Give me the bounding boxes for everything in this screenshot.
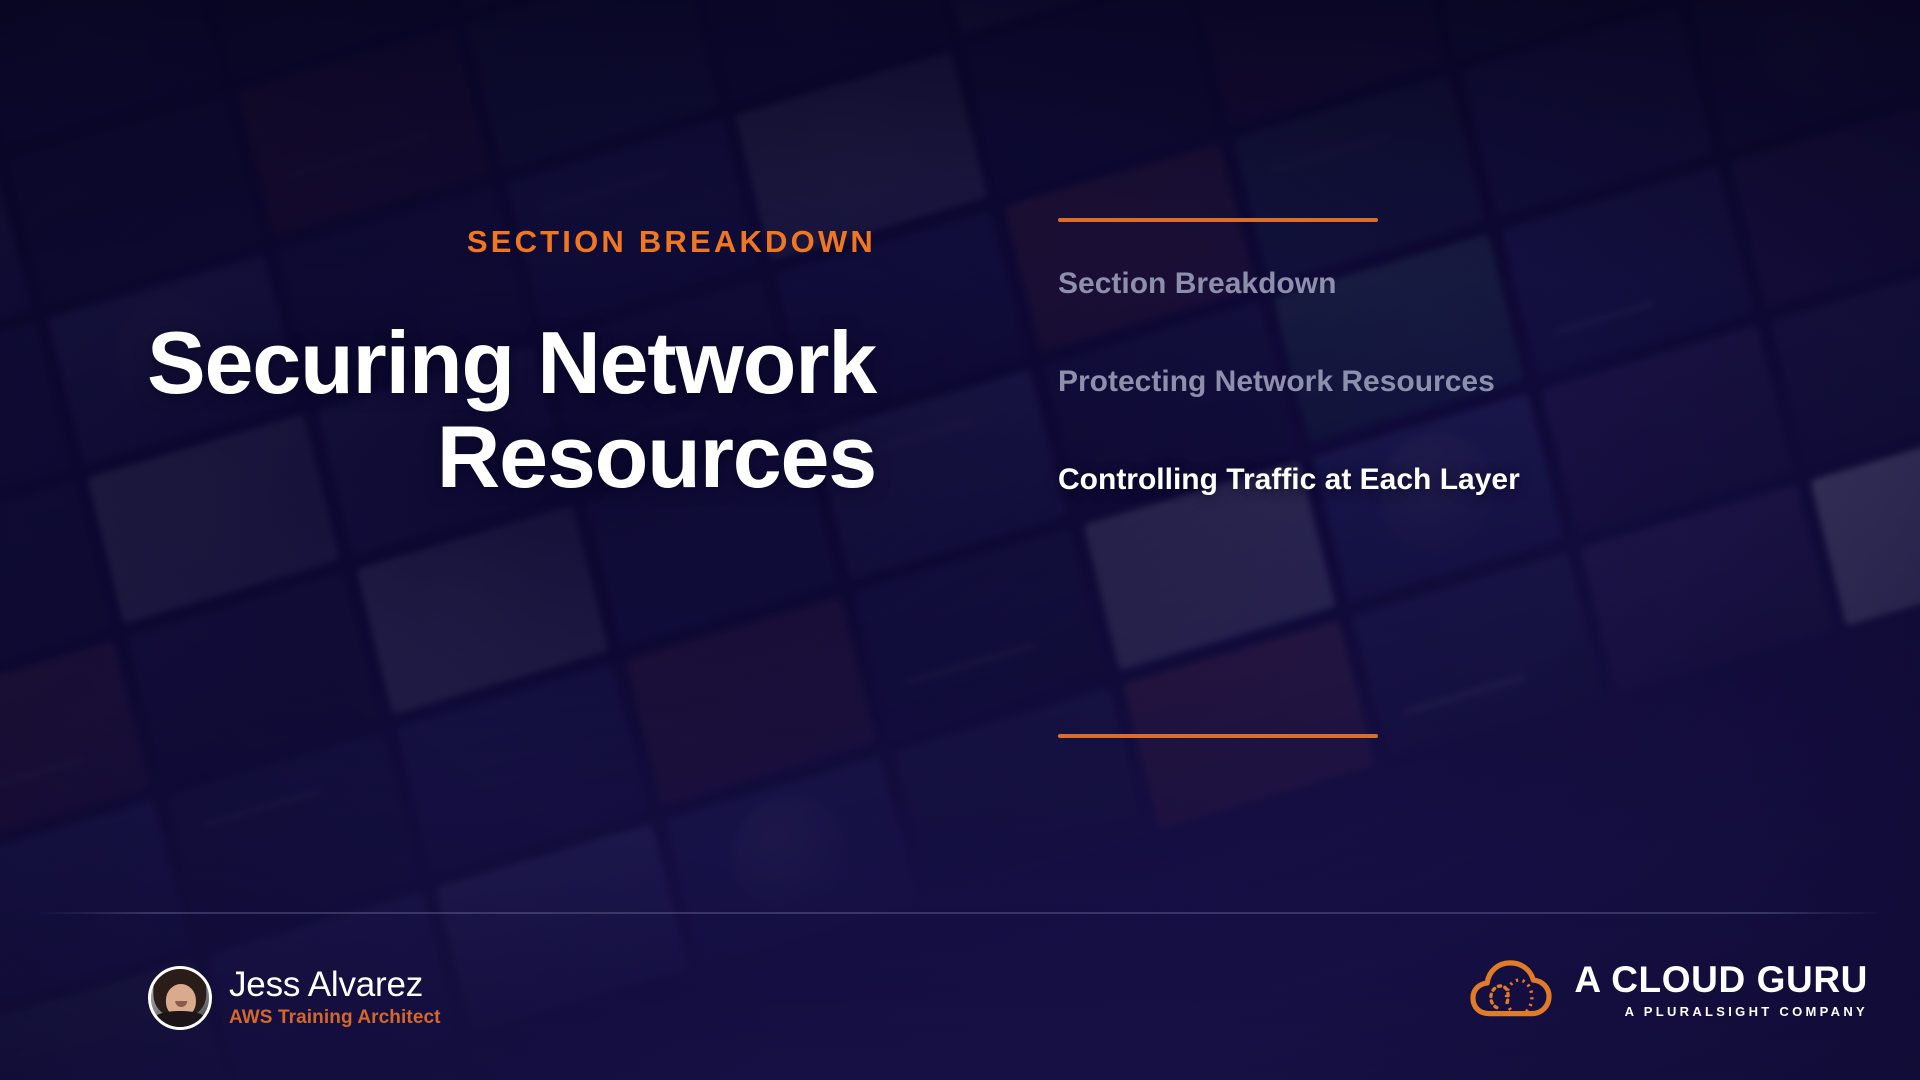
brand-tagline: A PLURALSIGHT COMPANY [1574, 1005, 1868, 1018]
brand-logo: A CLOUD GURU A PLURALSIGHT COMPANY [1470, 958, 1868, 1020]
agenda-rule-top [1058, 218, 1378, 222]
agenda-item-protecting-network-resources[interactable]: Protecting Network Resources [1058, 364, 1698, 400]
avatar [148, 966, 212, 1030]
brand-name: A CLOUD GURU [1574, 961, 1868, 998]
slide-content: SECTION BREAKDOWN Securing Network Resou… [0, 0, 1920, 1080]
footer-divider [40, 912, 1878, 914]
agenda-item-section-breakdown[interactable]: Section Breakdown [1058, 266, 1698, 302]
presenter-role: AWS Training Architect [229, 1007, 441, 1029]
agenda-panel: Section Breakdown Protecting Network Res… [1058, 218, 1698, 560]
page-title: Securing Network Resources [0, 316, 876, 504]
cloud-outline-icon [1470, 958, 1552, 1020]
presentation-slide: SECTION BREAKDOWN Securing Network Resou… [0, 0, 1920, 1080]
presenter-block: Jess Alvarez AWS Training Architect [148, 966, 441, 1030]
agenda-item-controlling-traffic-at-each-layer[interactable]: Controlling Traffic at Each Layer [1058, 462, 1698, 498]
slide-eyebrow-label: SECTION BREAKDOWN [467, 224, 876, 260]
agenda-rule-bottom [1058, 734, 1378, 738]
agenda-list: Section Breakdown Protecting Network Res… [1058, 266, 1698, 498]
presenter-name: Jess Alvarez [229, 967, 441, 1004]
